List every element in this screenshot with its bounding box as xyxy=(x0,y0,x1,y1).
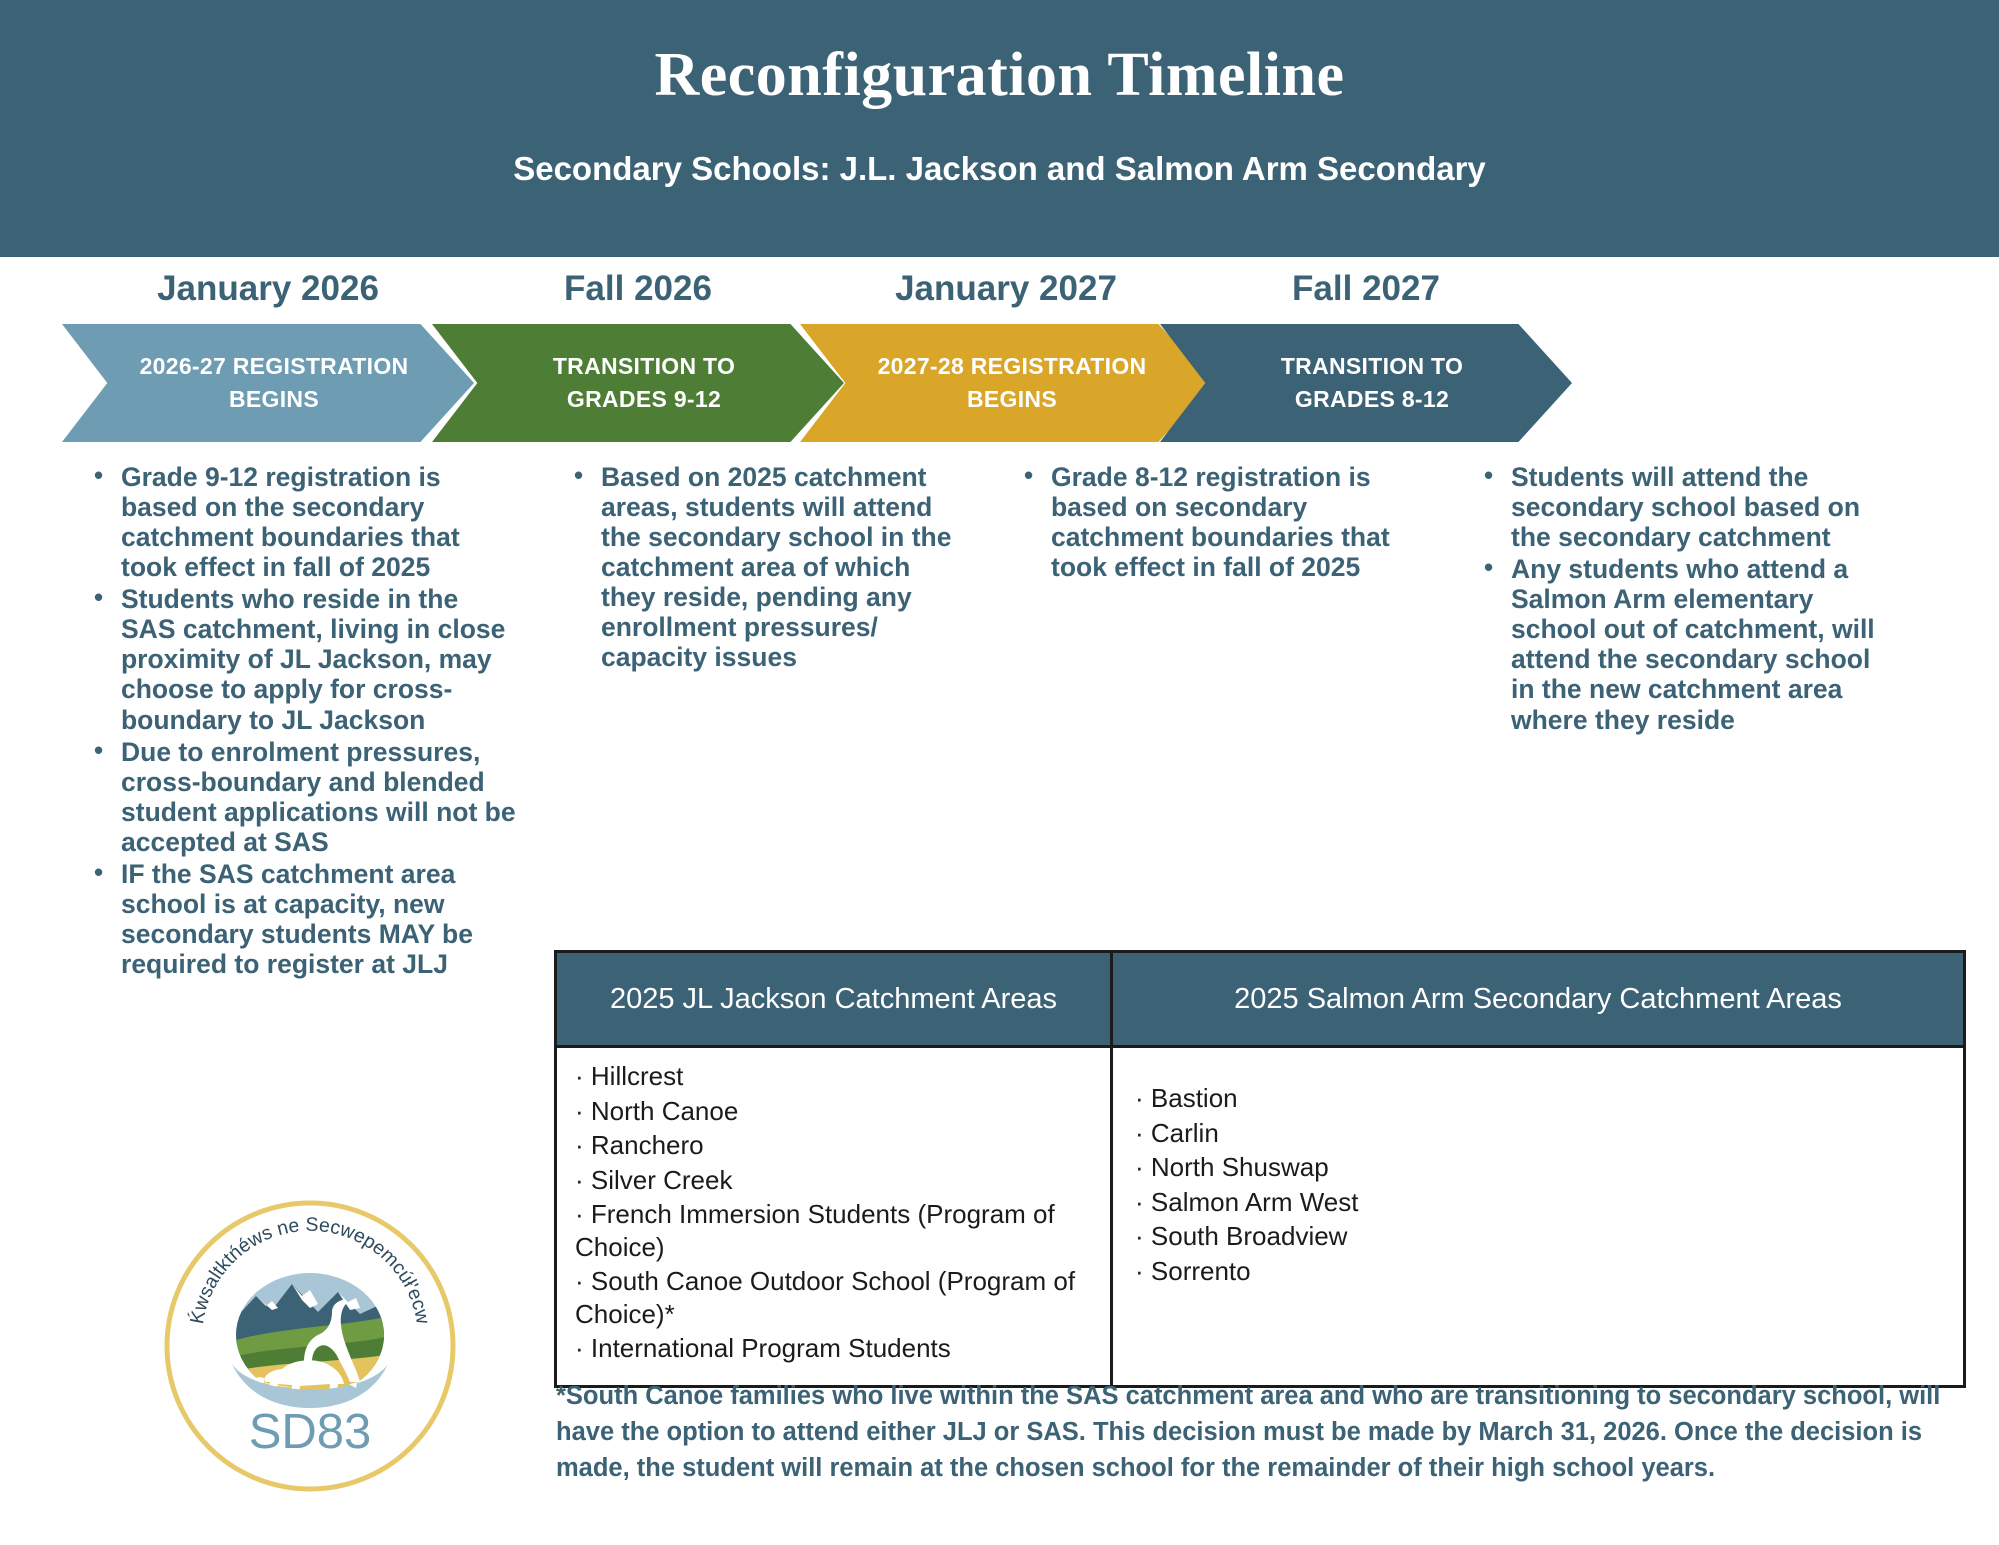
logo-district-code: SD83 xyxy=(249,1405,372,1459)
list-item: Hillcrest xyxy=(575,1060,1092,1093)
sd83-logo: Ḱwsaltktńéws ne Secwepemcúł'ecw xyxy=(160,1196,460,1496)
table-header-jl-jackson: 2025 JL Jackson Catchment Areas xyxy=(556,952,1112,1047)
timeline-banner-line2-0: BEGINS xyxy=(124,383,419,416)
timeline-arrow-banner-1: TRANSITION TO GRADES 9-12 xyxy=(432,324,844,442)
timeline-strip: January 2026 2026-27 REGISTRATION BEGINS… xyxy=(0,257,1999,402)
bullet-list-column-0: Grade 9-12 registration is based on the … xyxy=(88,462,520,981)
list-item: Carlin xyxy=(1135,1117,1945,1150)
list-item: South Broadview xyxy=(1135,1220,1945,1253)
list-item: Based on 2025 catchment areas, students … xyxy=(568,462,968,672)
list-item: Bastion xyxy=(1135,1082,1945,1115)
list-item: South Canoe Outdoor School (Program of C… xyxy=(575,1265,1092,1330)
list-item: International Program Students xyxy=(575,1332,1092,1365)
timeline-banner-line2-1: GRADES 9-12 xyxy=(537,383,745,416)
catchment-areas-table: 2025 JL Jackson Catchment Areas 2025 Sal… xyxy=(554,950,1966,1388)
timeline-date-label-1: Fall 2026 xyxy=(432,269,844,309)
timeline-arrow-banner-3: TRANSITION TO GRADES 8-12 xyxy=(1160,324,1572,442)
list-item: Salmon Arm West xyxy=(1135,1186,1945,1219)
table-header-row: 2025 JL Jackson Catchment Areas 2025 Sal… xyxy=(556,952,1965,1047)
table-row: Hillcrest North Canoe Ranchero Silver Cr… xyxy=(556,1047,1965,1387)
list-item: French Immersion Students (Program of Ch… xyxy=(575,1198,1092,1263)
page-header: Reconfiguration Timeline Secondary Schoo… xyxy=(0,0,1999,257)
page-subtitle: Secondary Schools: J.L. Jackson and Salm… xyxy=(0,150,1999,188)
sd83-logo-icon: Ḱwsaltktńéws ne Secwepemcúł'ecw xyxy=(160,1196,460,1496)
bullet-list-column-1: Based on 2025 catchment areas, students … xyxy=(568,462,968,674)
timeline-banner-line2-2: BEGINS xyxy=(862,383,1157,416)
timeline-date-label-0: January 2026 xyxy=(62,269,474,309)
list-item: Due to enrolment pressures, cross-bounda… xyxy=(88,737,520,857)
timeline-date-label-3: Fall 2027 xyxy=(1160,269,1572,309)
list-item: North Canoe xyxy=(575,1095,1092,1128)
list-item: Students who reside in the SAS catchment… xyxy=(88,584,520,734)
table-header-salmon-arm: 2025 Salmon Arm Secondary Catchment Area… xyxy=(1112,952,1965,1047)
list-item: Silver Creek xyxy=(575,1164,1092,1197)
timeline-date-label-2: January 2027 xyxy=(800,269,1212,309)
timeline-arrow-banner-2: 2027-28 REGISTRATION BEGINS xyxy=(800,324,1212,442)
list-item: Any students who attend a Salmon Arm ele… xyxy=(1478,554,1898,734)
timeline-banner-line1-0: 2026-27 REGISTRATION xyxy=(124,350,419,383)
bullet-list-column-2: Grade 8-12 registration is based on seco… xyxy=(1018,462,1428,584)
list-item: Students will attend the secondary schoo… xyxy=(1478,462,1898,552)
footnote-text: *South Canoe families who live within th… xyxy=(556,1378,1976,1487)
list-item: IF the SAS catchment area school is at c… xyxy=(88,859,520,979)
list-item: Grade 9-12 registration is based on the … xyxy=(88,462,520,582)
list-item: Grade 8-12 registration is based on seco… xyxy=(1018,462,1428,582)
timeline-banner-line1-1: TRANSITION TO xyxy=(537,350,745,383)
timeline-banner-line1-2: 2027-28 REGISTRATION xyxy=(862,350,1157,383)
table-cell-jl-jackson-list: Hillcrest North Canoe Ranchero Silver Cr… xyxy=(556,1047,1112,1387)
page-title: Reconfiguration Timeline xyxy=(0,40,1999,111)
timeline-banner-line2-3: GRADES 8-12 xyxy=(1265,383,1473,416)
table-cell-salmon-arm-list: Bastion Carlin North Shuswap Salmon Arm … xyxy=(1112,1047,1965,1387)
list-item: North Shuswap xyxy=(1135,1151,1945,1184)
infographic-page: Reconfiguration Timeline Secondary Schoo… xyxy=(0,0,1999,1545)
bullet-list-column-3: Students will attend the secondary schoo… xyxy=(1478,462,1898,737)
timeline-arrow-banner-0: 2026-27 REGISTRATION BEGINS xyxy=(62,324,474,442)
list-item: Sorrento xyxy=(1135,1255,1945,1288)
list-item: Ranchero xyxy=(575,1129,1092,1162)
timeline-banner-line1-3: TRANSITION TO xyxy=(1265,350,1473,383)
